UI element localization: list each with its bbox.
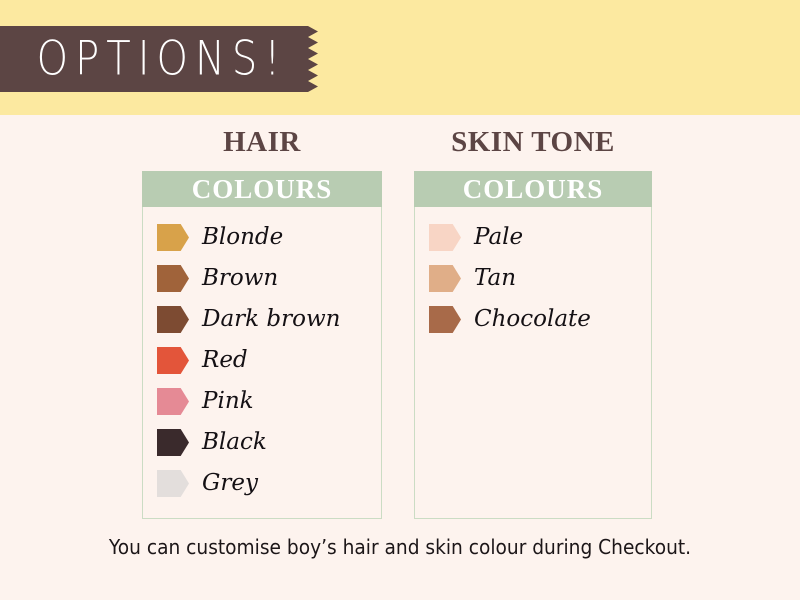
swatch-chip-icon — [429, 224, 461, 251]
colour-options-columns: HAIR COLOURS Blonde Brown Dark brown — [0, 128, 800, 523]
list-item[interactable]: Red — [143, 340, 381, 381]
swatch-list-skin-tone: Pale Tan Chocolate — [415, 207, 651, 340]
column-hair: HAIR COLOURS Blonde Brown Dark brown — [142, 128, 382, 519]
card-header-label-hair: COLOURS — [192, 176, 333, 203]
swatch-chip-icon — [157, 388, 189, 415]
list-item[interactable]: Blonde — [143, 217, 381, 258]
swatch-chip-icon — [157, 429, 189, 456]
swatch-chip-icon — [157, 306, 189, 333]
card-header-skin-tone: COLOURS — [414, 171, 652, 207]
swatch-chip-icon — [157, 224, 189, 251]
swatch-chip-icon — [429, 265, 461, 292]
column-skin-tone: SKIN TONE COLOURS Pale Tan Chocolate — [414, 128, 652, 519]
list-item[interactable]: Grey — [143, 463, 381, 504]
list-item[interactable]: Dark brown — [143, 299, 381, 340]
list-item[interactable]: Tan — [415, 258, 651, 299]
list-item[interactable]: Brown — [143, 258, 381, 299]
list-item[interactable]: Pale — [415, 217, 651, 258]
list-item[interactable]: Black — [143, 422, 381, 463]
options-ribbon-banner: OPTIONS! — [0, 26, 332, 92]
swatch-label: Brown — [202, 267, 278, 290]
swatch-label: Red — [202, 349, 248, 372]
card-header-hair: COLOURS — [142, 171, 382, 207]
column-title-skin-tone: SKIN TONE — [414, 128, 652, 157]
swatch-label: Pink — [202, 390, 254, 413]
swatch-label: Chocolate — [474, 308, 591, 331]
swatch-chip-icon — [157, 347, 189, 374]
list-item[interactable]: Pink — [143, 381, 381, 422]
swatch-chip-icon — [157, 265, 189, 292]
footer-caption: You can customise boy’s hair and skin co… — [28, 537, 772, 557]
swatch-label: Pale — [474, 226, 523, 249]
card-header-label-skin-tone: COLOURS — [463, 176, 604, 203]
card-skin-tone-colours: COLOURS Pale Tan Chocolate — [414, 171, 652, 519]
swatch-label: Blonde — [202, 226, 283, 249]
swatch-label: Black — [202, 431, 267, 454]
swatch-chip-icon — [157, 470, 189, 497]
swatch-chip-icon — [429, 306, 461, 333]
swatch-label: Tan — [474, 267, 516, 290]
swatch-label: Dark brown — [202, 308, 340, 331]
banner-title: OPTIONS! — [0, 20, 308, 98]
card-hair-colours: COLOURS Blonde Brown Dark brown Red — [142, 171, 382, 519]
swatch-list-hair: Blonde Brown Dark brown Red Pink — [143, 207, 381, 504]
list-item[interactable]: Chocolate — [415, 299, 651, 340]
swatch-label: Grey — [202, 472, 258, 495]
column-title-hair: HAIR — [142, 128, 382, 157]
